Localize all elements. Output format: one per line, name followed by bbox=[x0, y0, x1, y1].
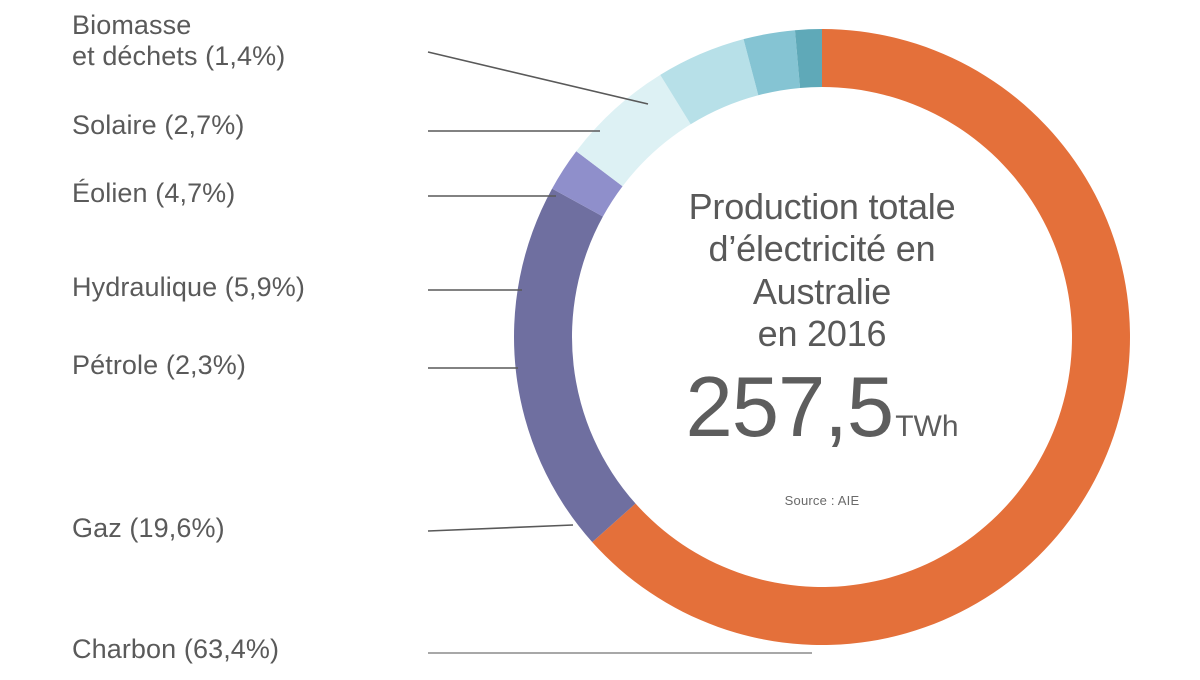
callout-label-petrole: Pétrole (2,3%) bbox=[72, 350, 246, 381]
callout-label-hydraulique: Hydraulique (5,9%) bbox=[72, 272, 305, 303]
chart-page: Biomasse et déchets (1,4%) Solaire (2,7%… bbox=[0, 0, 1200, 680]
donut-slices bbox=[514, 29, 1130, 645]
donut-slice-gaz[interactable] bbox=[514, 189, 636, 543]
leader-line-gaz bbox=[428, 525, 573, 531]
callout-label-biomasse: Biomasse et déchets (1,4%) bbox=[72, 10, 285, 73]
leader-line-biomasse bbox=[428, 52, 648, 104]
callout-label-solaire: Solaire (2,7%) bbox=[72, 110, 244, 141]
callout-label-charbon: Charbon (63,4%) bbox=[72, 634, 279, 665]
donut-chart bbox=[0, 0, 1200, 680]
callout-label-gaz: Gaz (19,6%) bbox=[72, 513, 225, 544]
callout-label-eolien: Éolien (4,7%) bbox=[72, 178, 235, 209]
